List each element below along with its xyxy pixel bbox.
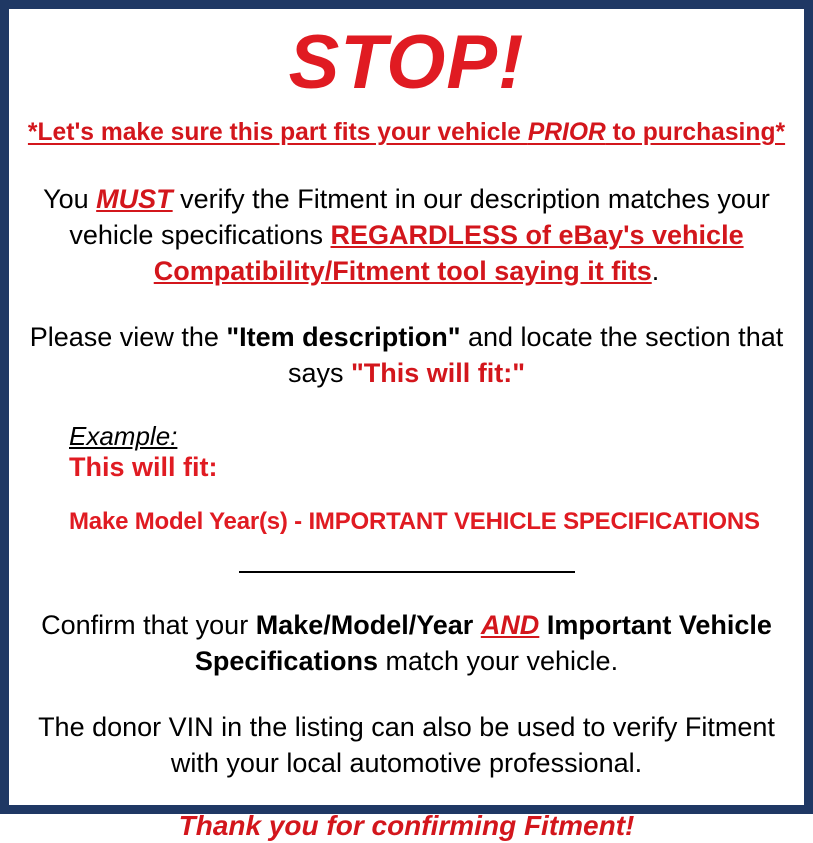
paragraph-view-description: Please view the "Item description" and l…	[19, 289, 794, 391]
horizontal-divider	[239, 571, 575, 573]
must-text-period: .	[652, 256, 660, 286]
this-will-fit-emphasis: "This will fit:"	[351, 358, 525, 388]
view-text-lead: Please view the	[30, 322, 227, 352]
headline-emphasis-prior: PRIOR	[528, 118, 606, 146]
divider-row	[19, 537, 794, 581]
make-model-year-emphasis: Make/Model/Year	[256, 610, 474, 640]
headline-verify-fitment: *Let's make sure this part fits your veh…	[25, 109, 788, 149]
paragraph-donor-vin: The donor VIN in the listing can also be…	[19, 679, 794, 781]
fitment-notice-body: STOP! *Let's make sure this part fits yo…	[9, 9, 804, 805]
paragraph-confirm-match: Confirm that your Make/Model/Year AND Im…	[19, 581, 794, 679]
headline-text-after: to purchasing*	[606, 118, 785, 146]
paragraph-must-verify: You MUST verify the Fitment in our descr…	[19, 149, 794, 289]
example-label: Example:	[69, 421, 177, 451]
item-description-emphasis: "Item description"	[226, 322, 460, 352]
example-label-row: Example:	[69, 421, 794, 451]
example-spec-line: Make Model Year(s) - IMPORTANT VEHICLE S…	[69, 483, 794, 537]
fitment-notice-frame: STOP! *Let's make sure this part fits yo…	[0, 0, 813, 814]
example-block: Example: This will fit: Make Model Year(…	[19, 391, 794, 537]
example-fits-line: This will fit:	[69, 451, 794, 483]
must-text-lead: You	[43, 184, 96, 214]
page-title: STOP!	[19, 9, 794, 109]
confirm-text-lead: Confirm that your	[41, 610, 256, 640]
must-emphasis: MUST	[96, 184, 173, 214]
confirm-text-tail: match your vehicle.	[378, 646, 618, 676]
headline-text-before: *Let's make sure this part fits your veh…	[28, 118, 528, 146]
and-emphasis: AND	[481, 610, 540, 640]
thank-you-message: Thank you for confirming Fitment!	[19, 781, 794, 843]
